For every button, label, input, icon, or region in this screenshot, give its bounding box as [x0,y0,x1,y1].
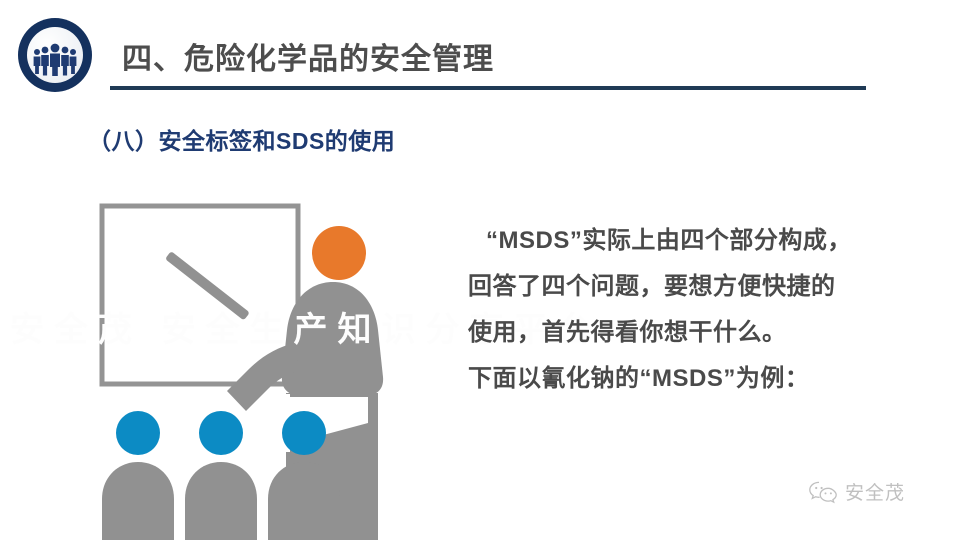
classroom-teaching-illustration [90,195,430,540]
page-title: 四、危险化学品的安全管理 [122,34,494,78]
body-line-3: 使用，首先得看你想干什么。 [468,310,920,356]
group-people-circle-icon [18,18,92,92]
body-line-4: 下面以氰化钠的“MSDS”为例： [468,356,920,402]
header-divider [110,86,866,90]
student-figures-shape [102,411,340,540]
logo-inner-disc [27,27,83,83]
wechat-icon [808,480,838,504]
section-subtitle: （八）安全标签和SDS的使用 [88,122,395,156]
body-paragraph: “MSDS”实际上由四个部分构成， 回答了四个问题，要想方便快捷的 使用，首先得… [468,218,920,402]
corner-watermark: 安全茂 [808,478,905,505]
body-line-1: “MSDS”实际上由四个部分构成， [468,218,920,264]
slide-root: 四、危险化学品的安全管理 （八）安全标签和SDS的使用 [0,0,960,540]
watermark-label: 安全茂 [845,478,905,505]
body-line-2: 回答了四个问题，要想方便快捷的 [468,264,920,310]
teacher-head-shape [312,226,366,280]
